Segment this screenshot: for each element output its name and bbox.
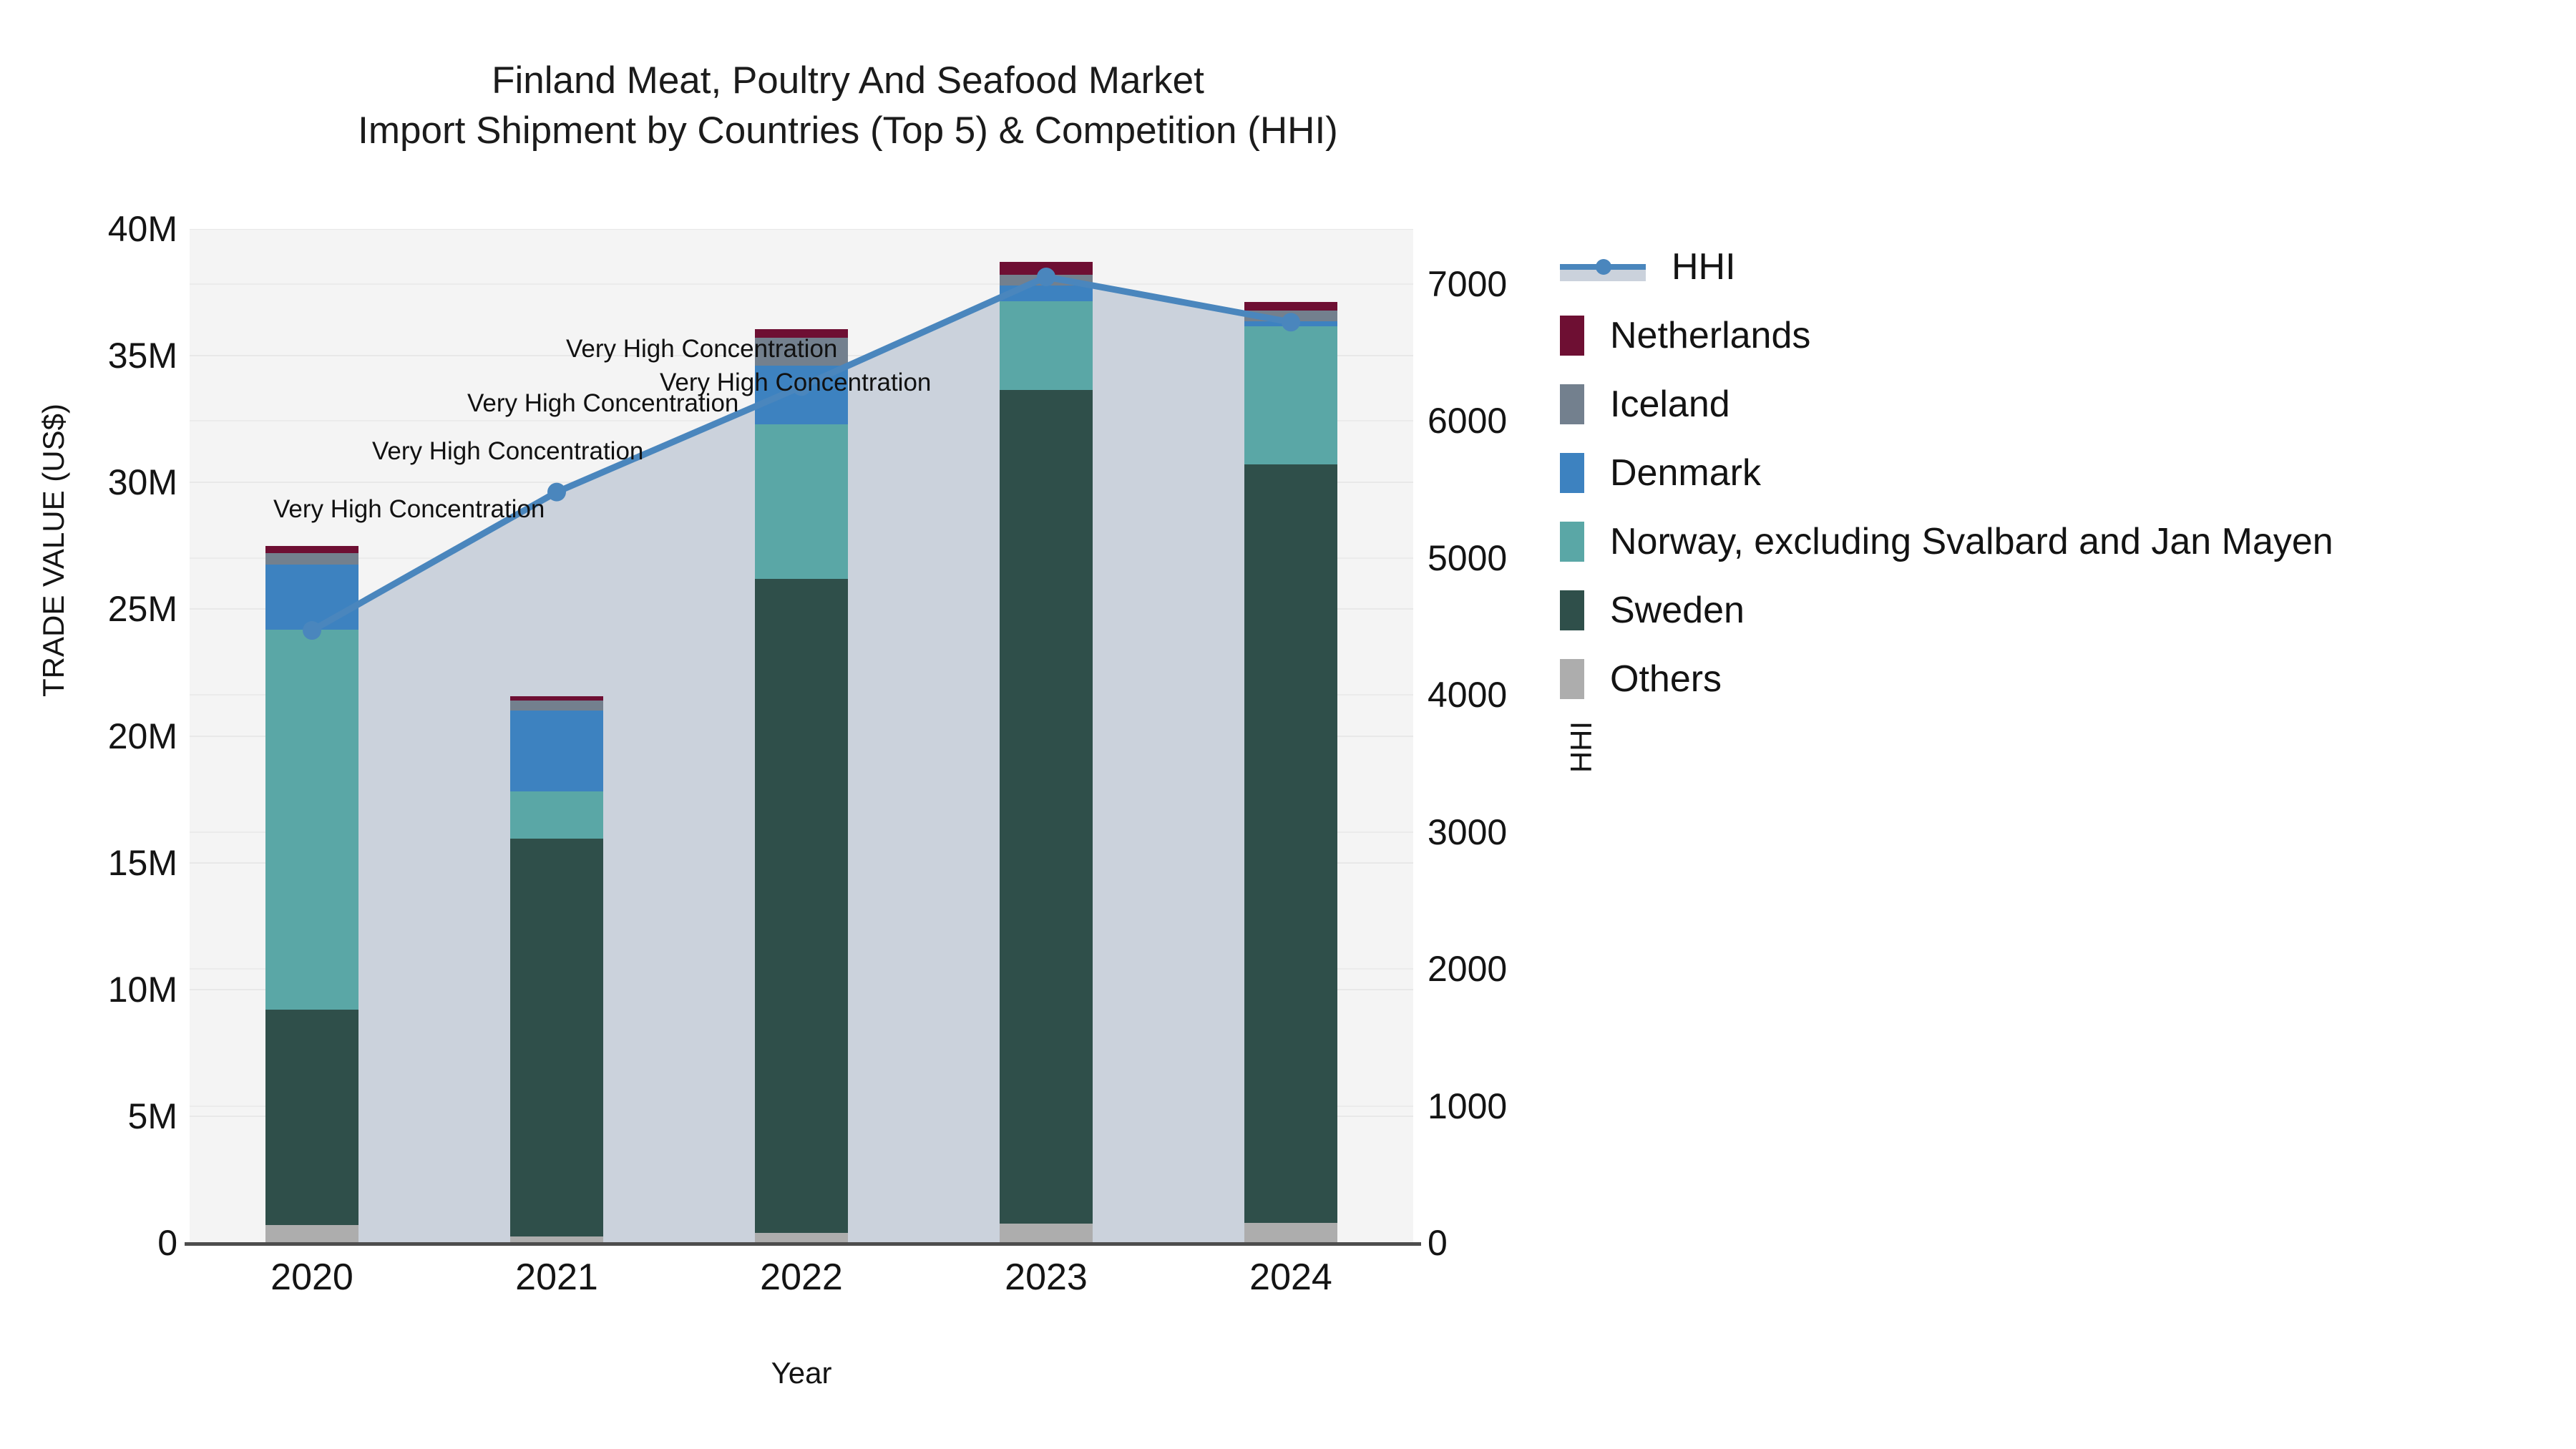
concentration-annotation: Very High Concentration <box>372 437 643 466</box>
y-axis-right-tick-label: 3000 <box>1428 811 1507 853</box>
x-axis-line <box>185 1242 1421 1246</box>
y-axis-right-ticks: 01000200030004000500060007000 <box>1428 0 1685 1449</box>
legend-item-label: Others <box>1610 658 1722 701</box>
chart-legend: HHINetherlandsIcelandDenmarkNorway, excl… <box>1560 233 2333 713</box>
x-axis-tick-label: 2020 <box>270 1256 353 1299</box>
legend-color-swatch <box>1560 522 1584 562</box>
x-axis-tick-label: 2021 <box>515 1256 598 1299</box>
legend-item[interactable]: Iceland <box>1560 370 2333 439</box>
y-axis-left-tick-label: 40M <box>13 208 177 250</box>
y-axis-left-tick-label: 5M <box>13 1096 177 1137</box>
legend-item[interactable]: Norway, excluding Svalbard and Jan Mayen <box>1560 507 2333 576</box>
y-axis-left-title: TRADE VALUE (US$) <box>36 336 71 765</box>
y-axis-left-tick-label: 10M <box>13 969 177 1010</box>
legend-color-swatch <box>1560 590 1584 630</box>
legend-line-marker <box>1560 247 1646 287</box>
x-axis-title: Year <box>190 1356 1413 1390</box>
legend-color-swatch <box>1560 453 1584 493</box>
legend-color-swatch <box>1560 316 1584 356</box>
legend-item-label: Norway, excluding Svalbard and Jan Mayen <box>1610 520 2333 563</box>
y-axis-left-tick-label: 15M <box>13 842 177 884</box>
concentration-annotation: Very High Concentration <box>566 335 837 364</box>
concentration-annotation: Very High Concentration <box>273 495 545 524</box>
legend-item[interactable]: Others <box>1560 645 2333 713</box>
legend-color-swatch <box>1560 384 1584 424</box>
y-axis-right-tick-label: 0 <box>1428 1222 1448 1264</box>
y-axis-right-tick-label: 5000 <box>1428 537 1507 579</box>
y-axis-right-tick-label: 4000 <box>1428 674 1507 716</box>
x-axis-tick-label: 2023 <box>1005 1256 1088 1299</box>
legend-item-label: Iceland <box>1610 383 1730 426</box>
x-axis-tick-label: 2024 <box>1249 1256 1332 1299</box>
legend-item-label: Netherlands <box>1610 314 1810 357</box>
legend-item-label: Sweden <box>1610 589 1745 632</box>
y-axis-right-tick-label: 1000 <box>1428 1085 1507 1127</box>
plot-area: Very High ConcentrationVery High Concent… <box>190 229 1413 1243</box>
y-axis-left-ticks: 05M10M15M20M25M30M35M40M <box>0 0 177 1449</box>
legend-item-label: HHI <box>1672 245 1736 288</box>
x-axis-tick-label: 2022 <box>760 1256 843 1299</box>
y-axis-right-tick-label: 6000 <box>1428 400 1507 441</box>
y-axis-right-tick-label: 2000 <box>1428 948 1507 990</box>
legend-item[interactable]: Netherlands <box>1560 301 2333 370</box>
chart-root: Finland Meat, Poultry And Seafood Market… <box>0 0 2576 1449</box>
concentration-annotation: Very High Concentration <box>660 369 931 397</box>
legend-item-label: Denmark <box>1610 452 1761 494</box>
y-axis-right-tick-label: 7000 <box>1428 263 1507 305</box>
legend-color-swatch <box>1560 659 1584 699</box>
legend-item[interactable]: HHI <box>1560 233 2333 301</box>
legend-item[interactable]: Denmark <box>1560 439 2333 507</box>
y-axis-left-tick-label: 0 <box>13 1222 177 1264</box>
legend-item[interactable]: Sweden <box>1560 576 2333 645</box>
